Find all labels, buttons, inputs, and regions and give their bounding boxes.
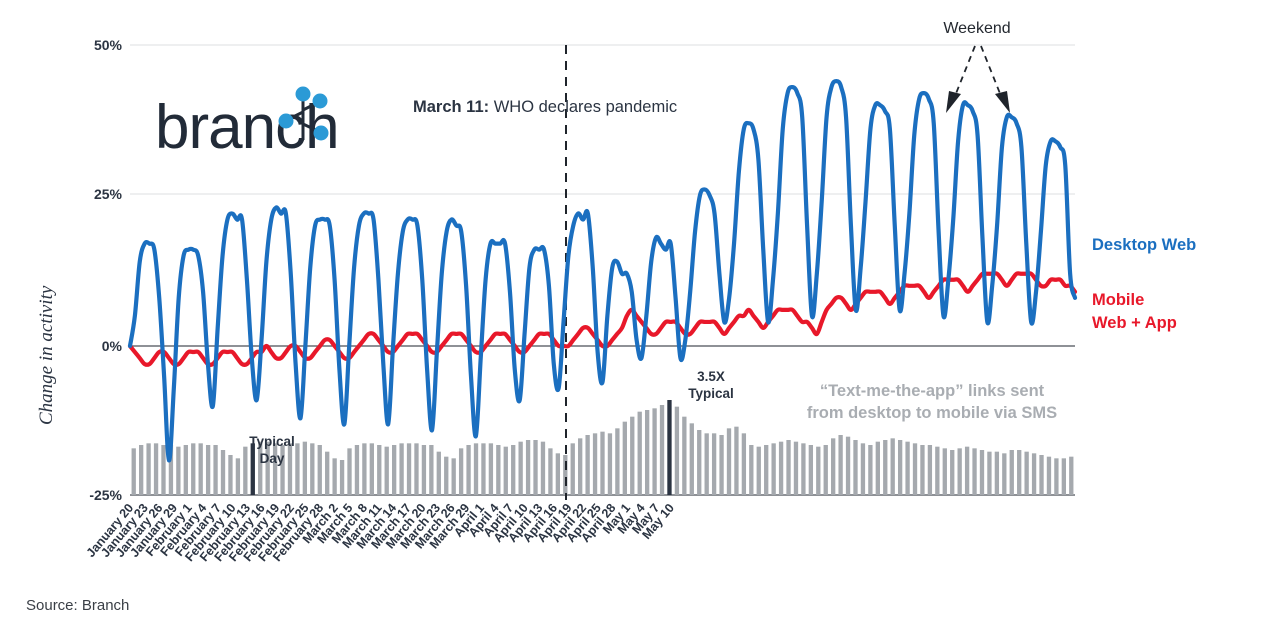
annotation-peak: 3.5X Typical xyxy=(688,369,734,401)
y-axis-label: Change in activity xyxy=(36,285,57,425)
peak-line1: 3.5X xyxy=(697,369,725,384)
bar xyxy=(742,433,746,495)
bar xyxy=(1047,457,1051,495)
chart-canvas: 50% 25% 0% -25% Change in activity branc… xyxy=(0,0,1276,628)
bar-highlighted xyxy=(667,400,671,495)
bar xyxy=(407,443,411,495)
y-tick-50: 50% xyxy=(94,37,123,53)
bar xyxy=(705,433,709,495)
bar xyxy=(1062,458,1066,495)
annotation-pandemic: March 11: WHO declares pandemic xyxy=(413,98,677,116)
bar xyxy=(1039,455,1043,495)
bar xyxy=(771,443,775,495)
y-tick-0: 0% xyxy=(102,338,123,354)
bar xyxy=(675,407,679,495)
bar xyxy=(385,447,389,495)
bar xyxy=(236,458,240,495)
weekend-arrow-right-head xyxy=(995,91,1010,113)
bar xyxy=(213,445,217,495)
bar xyxy=(1069,457,1073,495)
bar xyxy=(258,442,262,495)
weekend-label: Weekend xyxy=(943,20,1010,37)
bar xyxy=(571,443,575,495)
source-note: Source: Branch xyxy=(26,597,129,614)
weekend-arrow-left-line xyxy=(955,46,975,96)
bar xyxy=(318,445,322,495)
bar xyxy=(838,435,842,495)
bar xyxy=(935,447,939,495)
bar xyxy=(414,443,418,495)
bar xyxy=(980,450,984,495)
bar xyxy=(719,435,723,495)
legend-mobile-line2: Web + App xyxy=(1092,314,1177,332)
bar xyxy=(600,432,604,495)
bar xyxy=(585,435,589,495)
bar xyxy=(1002,453,1006,495)
bar xyxy=(399,443,403,495)
bar xyxy=(876,442,880,495)
y-tick-25: 25% xyxy=(94,186,123,202)
bar xyxy=(176,447,180,495)
bar xyxy=(593,433,597,495)
typical-day-line1: Typical xyxy=(249,434,295,449)
bar xyxy=(139,445,143,495)
bar xyxy=(727,428,731,495)
bar xyxy=(496,445,500,495)
bar xyxy=(266,442,270,495)
bar xyxy=(340,460,344,495)
bar xyxy=(288,443,292,495)
bar xyxy=(801,443,805,495)
bar xyxy=(697,430,701,495)
bar xyxy=(452,458,456,495)
bar xyxy=(370,443,374,495)
bar xyxy=(221,450,225,495)
bar xyxy=(749,445,753,495)
activity-chart: 50% 25% 0% -25% Change in activity branc… xyxy=(0,0,1276,628)
bar xyxy=(682,417,686,495)
bar xyxy=(853,440,857,495)
bar xyxy=(422,445,426,495)
bar xyxy=(474,443,478,495)
bar xyxy=(816,447,820,495)
bar xyxy=(824,445,828,495)
bar xyxy=(146,443,150,495)
bar xyxy=(987,452,991,495)
bar xyxy=(1032,453,1036,495)
bar xyxy=(206,445,210,495)
bar xyxy=(481,443,485,495)
bar xyxy=(132,448,136,495)
bar xyxy=(898,440,902,495)
bar xyxy=(303,442,307,495)
bar xyxy=(489,443,493,495)
sms-line2: from desktop to mobile via SMS xyxy=(807,404,1057,422)
bar xyxy=(295,443,299,495)
bar xyxy=(652,408,656,495)
bar xyxy=(332,458,336,495)
bar xyxy=(548,448,552,495)
bar xyxy=(161,445,165,495)
bar xyxy=(459,448,463,495)
bar xyxy=(660,405,664,495)
bar xyxy=(429,445,433,495)
bar-highlighted xyxy=(251,443,255,495)
bar xyxy=(965,447,969,495)
bar xyxy=(615,428,619,495)
bar xyxy=(734,427,738,495)
weekend-arrow-right-line xyxy=(981,46,1001,96)
bar xyxy=(920,445,924,495)
series-mobile-line xyxy=(130,273,1075,365)
bar xyxy=(972,448,976,495)
bar xyxy=(786,440,790,495)
bar xyxy=(154,443,158,495)
legend-desktop-web: Desktop Web xyxy=(1092,236,1196,254)
bar xyxy=(831,438,835,495)
bar xyxy=(355,445,359,495)
sms-line1: “Text-me-the-app” links sent xyxy=(820,382,1045,400)
bar xyxy=(511,445,515,495)
bar xyxy=(779,442,783,495)
bar xyxy=(526,440,530,495)
bar xyxy=(437,452,441,495)
bar xyxy=(325,452,329,495)
bar xyxy=(1024,452,1028,495)
bar xyxy=(764,445,768,495)
bar xyxy=(794,442,798,495)
bar xyxy=(608,433,612,495)
branch-logo: branch xyxy=(155,87,339,163)
bar xyxy=(191,443,195,495)
bar xyxy=(638,412,642,495)
bar xyxy=(466,445,470,495)
x-axis-ticks: January 20January 23January 26January 29… xyxy=(84,501,677,564)
bar xyxy=(958,448,962,495)
bar xyxy=(1054,458,1058,495)
bar xyxy=(809,445,813,495)
bar xyxy=(757,447,761,495)
bar xyxy=(199,443,203,495)
bar xyxy=(995,452,999,495)
bar xyxy=(913,443,917,495)
bar xyxy=(444,457,448,495)
bar xyxy=(518,442,522,495)
bar xyxy=(630,417,634,495)
bar xyxy=(243,447,247,495)
bar xyxy=(533,440,537,495)
bar xyxy=(883,440,887,495)
bar xyxy=(310,443,314,495)
bar xyxy=(861,443,865,495)
bar xyxy=(645,410,649,495)
legend: Desktop Web Mobile Web + App xyxy=(1092,236,1196,332)
bar xyxy=(928,445,932,495)
bar xyxy=(943,448,947,495)
bar xyxy=(578,438,582,495)
bar xyxy=(541,442,545,495)
annotation-weekend: Weekend xyxy=(943,20,1010,113)
bar xyxy=(1017,450,1021,495)
bar xyxy=(1010,450,1014,495)
bar xyxy=(392,445,396,495)
bar xyxy=(362,443,366,495)
bar xyxy=(556,453,560,495)
bar xyxy=(868,445,872,495)
bar xyxy=(377,445,381,495)
weekend-arrow-left-head xyxy=(946,91,961,113)
bar xyxy=(184,445,188,495)
typical-day-line2: Day xyxy=(260,451,285,466)
bar xyxy=(347,448,351,495)
legend-mobile-line1: Mobile xyxy=(1092,291,1144,309)
y-tick-neg25: -25% xyxy=(89,487,122,503)
y-axis-ticks: 50% 25% 0% -25% xyxy=(89,37,122,503)
bar xyxy=(228,455,232,495)
bar xyxy=(690,423,694,495)
bar xyxy=(712,433,716,495)
peak-line2: Typical xyxy=(688,386,734,401)
bar xyxy=(846,437,850,495)
annotation-sms: “Text-me-the-app” links sent from deskto… xyxy=(807,382,1057,422)
bar xyxy=(504,447,508,495)
bar xyxy=(950,450,954,495)
bar xyxy=(905,442,909,495)
bar xyxy=(623,422,627,495)
bar xyxy=(891,438,895,495)
